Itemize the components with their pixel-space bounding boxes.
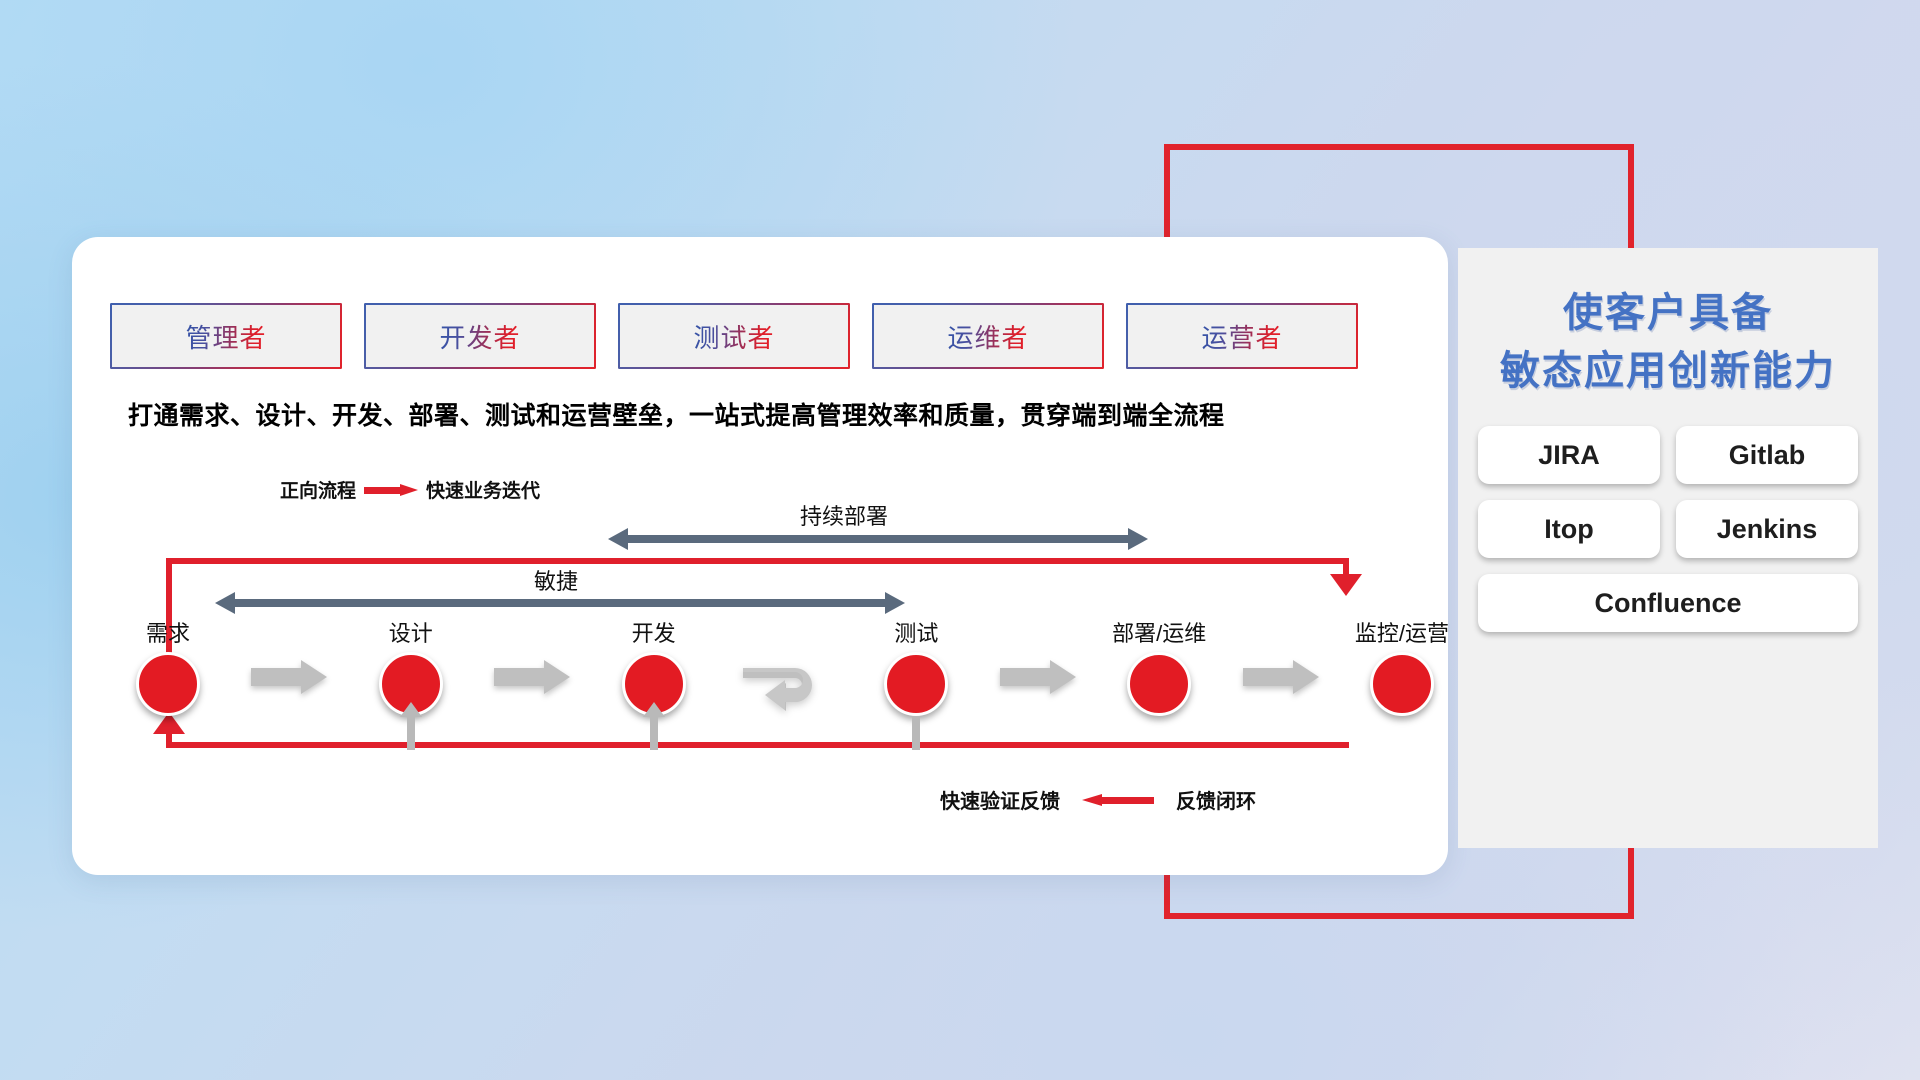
- pipeline-connector: [216, 616, 363, 694]
- pipeline-node-monitor-operations[interactable]: 监控/运营: [1354, 616, 1450, 716]
- tool-chip-jira[interactable]: JIRA: [1478, 426, 1660, 484]
- tool-chip-jenkins[interactable]: Jenkins: [1676, 500, 1858, 558]
- node-stem-up-icon: [650, 716, 658, 750]
- role-chip-label: 开发者: [439, 318, 520, 355]
- pipeline-node-label: 监控/运营: [1355, 616, 1449, 648]
- role-chip-ops[interactable]: 运维者: [872, 303, 1104, 369]
- role-chip-tester[interactable]: 测试者: [618, 303, 850, 369]
- arrow-head-right-icon: [1128, 528, 1148, 550]
- slide-canvas: 管理者 开发者 测试者 运维者 运营者 打通需求、设计、开发、部署、测试和运营壁…: [0, 0, 1920, 1080]
- tool-chip-confluence[interactable]: Confluence: [1478, 574, 1858, 632]
- role-chip-operator[interactable]: 运营者: [1126, 303, 1358, 369]
- chevron-right-icon: [251, 660, 327, 694]
- node-stem-up-icon: [407, 716, 415, 750]
- forward-flow-annotation: 正向流程 快速业务迭代: [280, 476, 540, 503]
- pipeline-node-label: 设计: [389, 616, 433, 648]
- side-panel-title: 使客户具备 敏态应用创新能力: [1458, 284, 1878, 400]
- pipeline-node-label: 开发: [632, 616, 676, 648]
- forward-flow-left-label: 正向流程: [280, 476, 356, 503]
- arrow-head-left-icon: [215, 592, 235, 614]
- pipeline-node-design[interactable]: 设计: [363, 616, 459, 716]
- role-chip-manager[interactable]: 管理者: [110, 303, 342, 369]
- arrow-bar: [626, 535, 1130, 543]
- pipeline-connector: [964, 616, 1111, 694]
- pipeline-node-development[interactable]: 开发: [606, 616, 702, 716]
- pipeline-node-dot: [1127, 652, 1191, 716]
- pipeline-connector: [1207, 616, 1354, 694]
- feedback-loop-annotation: 快速验证反馈 反馈闭环: [940, 785, 1256, 814]
- pipeline-node-testing[interactable]: 测试: [868, 616, 964, 716]
- pipeline-node-label: 部署/运维: [1112, 616, 1206, 648]
- tool-chip-itop[interactable]: Itop: [1478, 500, 1660, 558]
- arrow-right-red-icon: [364, 484, 418, 496]
- pipeline-node-dot: [884, 652, 948, 716]
- forward-flow-right-label: 快速业务迭代: [426, 476, 540, 503]
- feedback-left-label: 快速验证反馈: [940, 785, 1060, 814]
- feedback-right-label: 反馈闭环: [1176, 785, 1256, 814]
- pipeline-node-label: 测试: [894, 616, 938, 648]
- tool-chip-gitlab[interactable]: Gitlab: [1676, 426, 1858, 484]
- role-chip-developer[interactable]: 开发者: [364, 303, 596, 369]
- arrow-left-red-icon: [1082, 794, 1154, 806]
- pipeline-connector: [702, 616, 869, 726]
- side-panel: 使客户具备 敏态应用创新能力 JIRA Gitlab Itop Jenkins …: [1458, 248, 1878, 848]
- pipeline-connector: [459, 616, 606, 694]
- role-chip-label: 运维者: [947, 318, 1028, 355]
- chevron-right-icon: [1243, 660, 1319, 694]
- side-panel-title-line2: 敏态应用创新能力: [1458, 342, 1878, 400]
- span-arrow-continuous-deployment: [608, 528, 1148, 550]
- pipeline-row: 需求 设计 开发 测试: [120, 616, 1450, 756]
- span-label-continuous-deployment: 持续部署: [800, 499, 888, 531]
- chevron-right-icon: [494, 660, 570, 694]
- side-panel-title-line1: 使客户具备: [1458, 284, 1878, 342]
- role-chip-label: 管理者: [185, 318, 266, 355]
- pipeline-node-requirements[interactable]: 需求: [120, 616, 216, 716]
- headline-text: 打通需求、设计、开发、部署、测试和运营壁垒，一站式提高管理效率和质量，贯穿端到端…: [128, 396, 1428, 432]
- chevron-right-icon: [1000, 660, 1076, 694]
- pipeline-node-dot: [1370, 652, 1434, 716]
- loop-arrow-down-icon: [1330, 574, 1362, 596]
- role-chip-label: 测试者: [693, 318, 774, 355]
- span-arrow-agile: [215, 592, 905, 614]
- arrow-bar: [233, 599, 887, 607]
- pipeline-node-deploy-ops[interactable]: 部署/运维: [1111, 616, 1207, 716]
- tool-chip-grid: JIRA Gitlab Itop Jenkins Confluence: [1458, 426, 1878, 632]
- arrow-head-left-icon: [608, 528, 628, 550]
- uturn-loop-icon: [737, 660, 833, 726]
- pipeline-node-dot: [136, 652, 200, 716]
- arrow-head-right-icon: [885, 592, 905, 614]
- pipeline-node-label: 需求: [146, 616, 190, 648]
- node-stem-icon: [912, 716, 920, 750]
- role-chip-row: 管理者 开发者 测试者 运维者 运营者: [110, 303, 1358, 369]
- loop-path-top: [166, 558, 1349, 564]
- role-chip-label: 运营者: [1201, 318, 1282, 355]
